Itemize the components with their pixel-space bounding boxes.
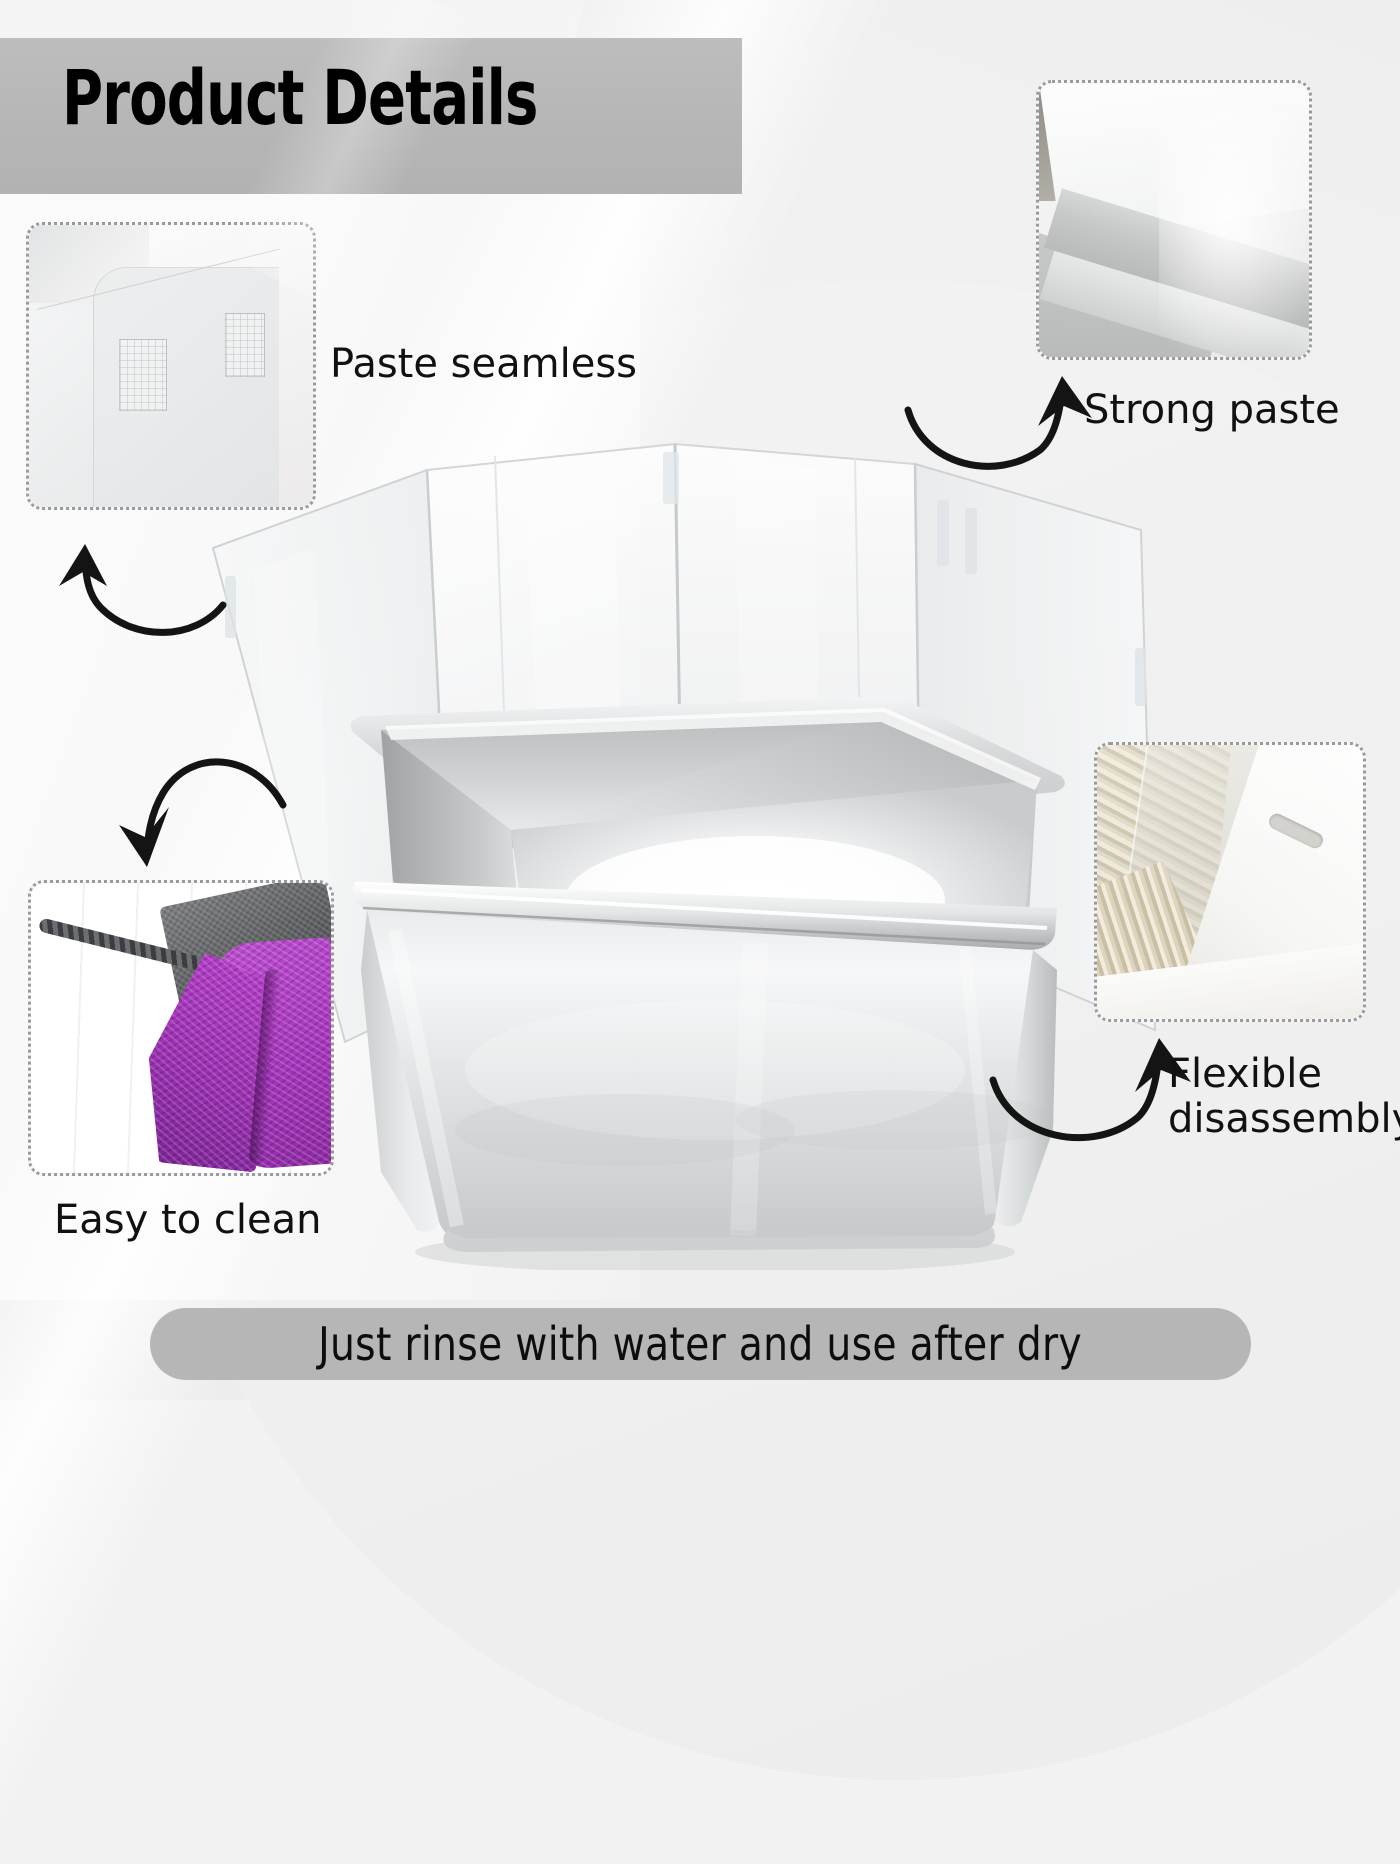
microfiber-cloth-photo [31, 883, 331, 1173]
label-flexible-line1: Flexible [1168, 1052, 1388, 1097]
page-title: Product Details [62, 60, 538, 136]
adhesive-strip-a [937, 500, 949, 566]
label-strong-paste: Strong paste [1084, 388, 1340, 433]
label-flexible-disassembly: Flexible disassembly [1168, 1052, 1388, 1142]
curved-arrow-to-strong-paste [900, 362, 1100, 492]
inset-flexible-disassembly-photo [1094, 742, 1366, 1022]
adhesive-pad-right [225, 313, 265, 377]
curved-arrow-to-paste-seamless [45, 490, 260, 670]
inset-easy-to-clean-photo [28, 880, 334, 1176]
panel-rim-closeup-photo [1039, 83, 1309, 357]
inset-strong-paste-photo [1036, 80, 1312, 360]
adhesive-strip-d [1135, 648, 1146, 706]
footer-text: Just rinse with water and use after dry [319, 1317, 1083, 1371]
label-easy-to-clean: Easy to clean [54, 1198, 321, 1243]
label-flexible-line2: disassembly [1168, 1097, 1388, 1142]
adhesive-pad-left [119, 339, 167, 411]
curved-arrow-to-easy-clean [95, 745, 290, 920]
label-paste-seamless: Paste seamless [330, 342, 637, 387]
footer-banner: Just rinse with water and use after dry [150, 1308, 1251, 1380]
litter-pellets-in-box-photo [1097, 745, 1363, 1019]
adhesive-strip-b [965, 508, 977, 574]
